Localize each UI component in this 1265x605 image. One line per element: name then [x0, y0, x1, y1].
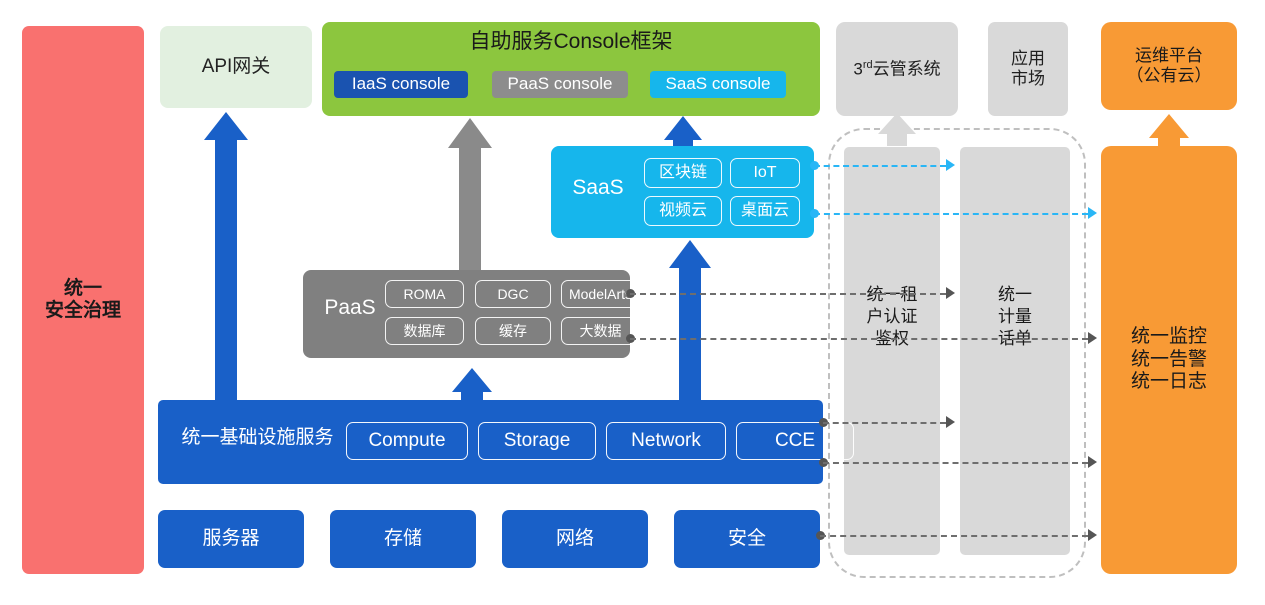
- infra-item-storage-label: Storage: [504, 430, 571, 452]
- security-governance-column: 统一 安全治理: [22, 26, 144, 574]
- saas-panel: SaaS 区块链 IoT 视频云 桌面云: [551, 146, 814, 238]
- ops-col-line-2: 统一告警: [1131, 349, 1207, 371]
- arrow-infra-to-saas: [669, 240, 711, 400]
- connector-arrow-paas-1: [946, 287, 955, 299]
- iaas-console-chip: IaaS console: [334, 71, 468, 98]
- tenant-auth-column: [844, 147, 940, 555]
- ops-monitoring-column: 统一监控 统一告警 统一日志: [1101, 146, 1237, 574]
- paas-item-cache: 缓存: [475, 317, 551, 345]
- connector-saas-to-ops: [814, 213, 1088, 215]
- connector-paas-to-ops: [630, 338, 1088, 340]
- connector-infra-to-ops: [823, 462, 1088, 464]
- infra-item-compute: Compute: [346, 422, 468, 460]
- arrow-saas-to-console: [664, 116, 702, 146]
- app-market-box: 应用 市场: [988, 22, 1068, 116]
- security-line-2: 安全治理: [45, 300, 121, 322]
- paas-item-roma: ROMA: [385, 280, 464, 308]
- paas-item-dgc-label: DGC: [497, 286, 528, 303]
- ops-platform-public-cloud-box: 运维平台 （公有云）: [1101, 22, 1237, 110]
- saas-console-label: SaaS console: [666, 74, 771, 94]
- saas-item-blockchain-label: 区块链: [659, 164, 707, 183]
- connector-saas-to-tenant-auth: [814, 165, 946, 167]
- hardware-storage-label: 存储: [384, 528, 422, 550]
- third-party-cloud-mgmt-box: 3rd云管系统: [836, 22, 958, 116]
- connector-arrow-paas-2: [1088, 332, 1097, 344]
- console-frame-title: 自助服务Console框架: [322, 30, 820, 55]
- self-service-console-frame: 自助服务Console框架 IaaS console PaaS console …: [322, 22, 820, 116]
- metering-line-1: 统一: [960, 284, 1070, 306]
- saas-item-iot: IoT: [730, 158, 800, 188]
- paas-item-modelarts-label: ModelArts: [569, 286, 632, 303]
- paas-console-chip: PaaS console: [492, 71, 628, 98]
- app-market-line-2: 市场: [1011, 69, 1045, 89]
- architecture-diagram: 统一 安全治理 API网关 自助服务Console框架 IaaS console…: [0, 0, 1265, 605]
- paas-panel-label: PaaS: [311, 296, 389, 321]
- saas-panel-label: SaaS: [563, 176, 633, 201]
- metering-billing-column: [960, 147, 1070, 555]
- connector-arrow-infra-2: [1088, 456, 1097, 468]
- arrow-infra-to-api-gateway: [204, 112, 248, 400]
- infra-item-cce: CCE: [736, 422, 854, 460]
- connector-infra-to-tenant-auth: [823, 422, 946, 424]
- infrastructure-label: 统一基础设施服务: [170, 427, 345, 449]
- saas-item-desktop-cloud: 桌面云: [730, 196, 800, 226]
- third-party-prefix: 3: [853, 59, 862, 78]
- saas-item-video-cloud-label: 视频云: [659, 202, 707, 221]
- app-market-line-1: 应用: [1011, 49, 1045, 69]
- infra-item-network: Network: [606, 422, 726, 460]
- infra-item-compute-label: Compute: [368, 430, 445, 452]
- connector-arrow-hardware: [1088, 529, 1097, 541]
- security-line-1: 统一: [45, 278, 121, 300]
- paas-item-cache-label: 缓存: [499, 323, 527, 340]
- saas-item-iot-label: IoT: [753, 164, 776, 183]
- hardware-network-label: 网络: [556, 528, 594, 550]
- hardware-server-label: 服务器: [202, 528, 259, 550]
- arrow-paas-to-console: [448, 118, 492, 270]
- paas-item-roma-label: ROMA: [404, 286, 446, 303]
- ops-top-line-2: （公有云）: [1127, 66, 1212, 86]
- infra-item-cce-label: CCE: [775, 430, 815, 452]
- connector-arrow-infra-1: [946, 416, 955, 428]
- connector-paas-to-tenant-auth: [630, 293, 946, 295]
- metering-line-2: 计量: [960, 306, 1070, 328]
- infra-item-storage: Storage: [478, 422, 596, 460]
- ops-top-line-1: 运维平台: [1127, 46, 1212, 66]
- ops-col-line-1: 统一监控: [1131, 326, 1207, 348]
- hardware-box-network: 网络: [502, 510, 648, 568]
- iaas-console-label: IaaS console: [352, 74, 450, 94]
- hardware-box-security: 安全: [674, 510, 820, 568]
- paas-console-label: PaaS console: [508, 74, 613, 94]
- unified-infrastructure-bar: 统一基础设施服务 Compute Storage Network CCE: [158, 400, 823, 484]
- paas-item-dgc: DGC: [475, 280, 551, 308]
- paas-item-database: 数据库: [385, 317, 464, 345]
- tenant-auth-line-2: 户认证: [844, 306, 940, 328]
- saas-item-video-cloud: 视频云: [644, 196, 722, 226]
- saas-item-desktop-cloud-label: 桌面云: [741, 202, 789, 221]
- connector-arrow-saas-2: [1088, 207, 1097, 219]
- saas-console-chip: SaaS console: [650, 71, 786, 98]
- hardware-security-label: 安全: [728, 528, 766, 550]
- api-gateway-label: API网关: [202, 56, 271, 78]
- arrow-infra-to-paas: [452, 368, 492, 400]
- hardware-box-storage: 存储: [330, 510, 476, 568]
- paas-item-bigdata-label: 大数据: [580, 323, 622, 340]
- paas-panel: PaaS ROMA DGC ModelArts 数据库 缓存 大数据: [303, 270, 630, 358]
- third-party-superscript: rd: [863, 59, 873, 71]
- connector-arrow-saas-1: [946, 159, 955, 171]
- saas-item-blockchain: 区块链: [644, 158, 722, 188]
- ops-col-line-3: 统一日志: [1131, 371, 1207, 393]
- infra-item-network-label: Network: [631, 430, 701, 452]
- connector-hardware-to-ops: [820, 535, 1088, 537]
- arrow-ops-col-to-ops-top: [1149, 114, 1189, 146]
- paas-item-database-label: 数据库: [404, 323, 446, 340]
- hardware-box-server: 服务器: [158, 510, 304, 568]
- api-gateway-box: API网关: [160, 26, 312, 108]
- third-party-label: 云管系统: [873, 59, 941, 78]
